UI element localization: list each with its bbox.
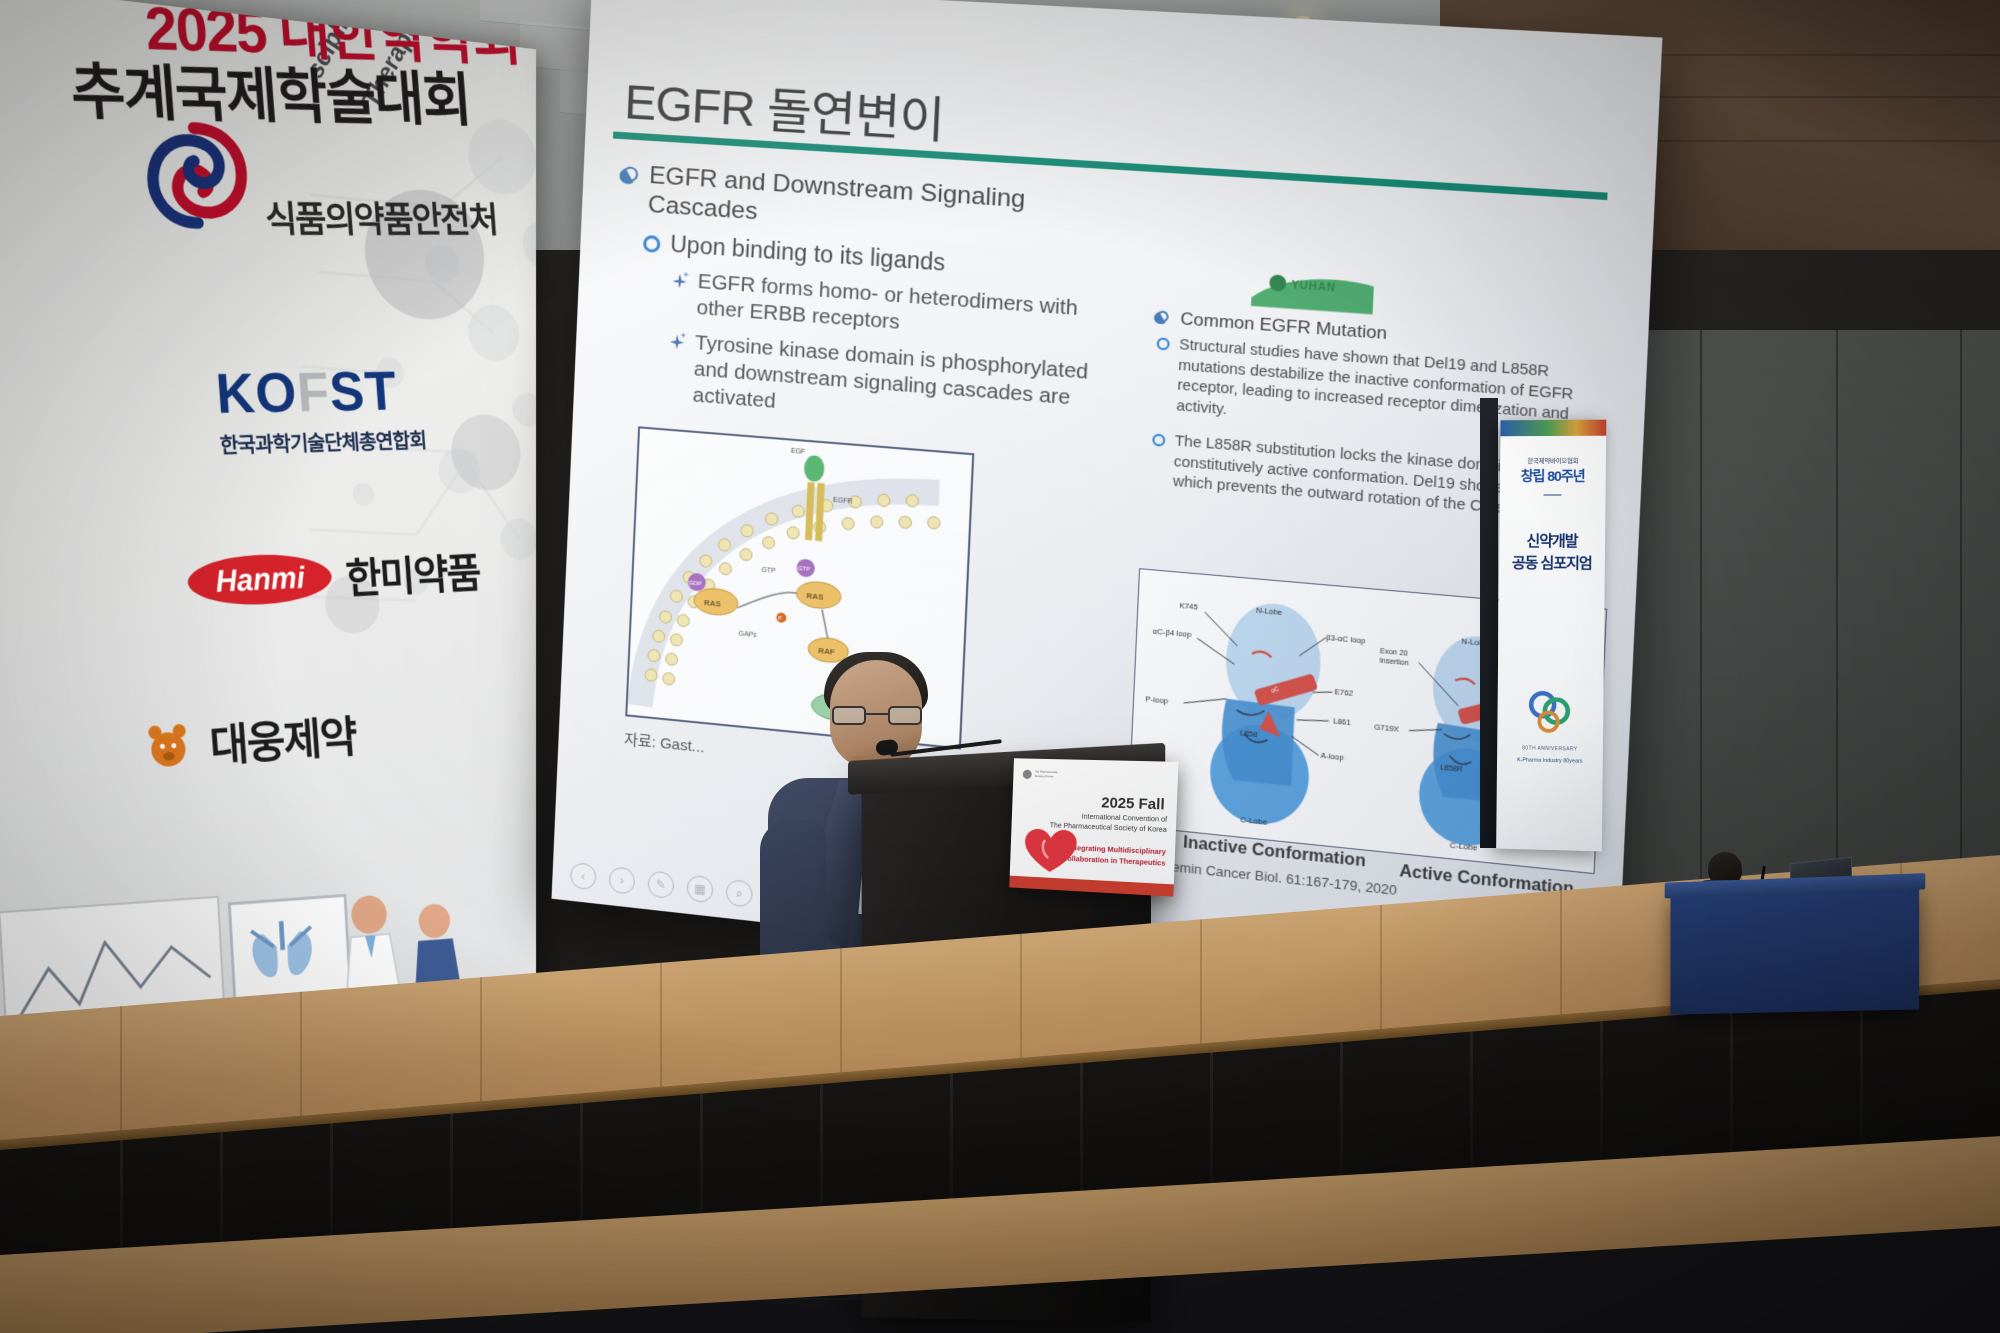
svg-text:P-loop: P-loop bbox=[1145, 694, 1168, 705]
grid-view-button[interactable]: ▦ bbox=[686, 875, 713, 904]
conference-hall-photo: sciplinary Therapeutics Korea 2025 대한약학회… bbox=[0, 0, 2000, 1333]
daewoong-logo: 대웅제약 bbox=[142, 702, 358, 780]
svg-text:Insertion: Insertion bbox=[1379, 658, 1409, 668]
svg-text:RAF: RAF bbox=[818, 646, 835, 657]
svg-text:αC-β4 loop: αC-β4 loop bbox=[1153, 627, 1192, 640]
symposium-banner-right: 한국제약바이오협회 창립 80주년 신약개발 공동 심포지엄 80TH ANNI… bbox=[1496, 420, 1606, 852]
podium-event-sign: The Pharmaceutical Society of Korea 2025… bbox=[1009, 758, 1178, 896]
right-banner-title-1: 신약개발 bbox=[1499, 530, 1605, 551]
svg-text:EGF: EGF bbox=[791, 448, 806, 456]
svg-text:The Pharmaceutical: The Pharmaceutical bbox=[1035, 769, 1058, 774]
svg-text:RAS: RAS bbox=[806, 591, 823, 602]
svg-text:C-Lobe: C-Lobe bbox=[1240, 815, 1268, 827]
pen-tool-button[interactable]: ✎ bbox=[647, 870, 674, 899]
anniversary-caption: 80TH ANNIVERSARY bbox=[1497, 745, 1603, 753]
ring-bullet-icon bbox=[643, 235, 661, 253]
left-figure-citation: 자료: Gast... bbox=[624, 728, 705, 757]
svg-text:A-loop: A-loop bbox=[1320, 750, 1343, 762]
svg-text:L861: L861 bbox=[1333, 716, 1351, 727]
svg-text:RAS: RAS bbox=[704, 598, 721, 609]
kofst-logo: KOFST 한국과학기술단체총연합회 bbox=[214, 359, 427, 460]
divider bbox=[1543, 494, 1561, 496]
svg-text:GTP: GTP bbox=[761, 567, 776, 575]
ring-bullet-icon bbox=[1157, 337, 1170, 350]
mfds-taegeuk-logo bbox=[141, 119, 252, 231]
hanmi-wordmark: Hanmi bbox=[186, 552, 333, 608]
svg-text:G719X: G719X bbox=[1374, 722, 1400, 734]
banner-support-column bbox=[1480, 398, 1498, 848]
yuhan-logo: YUHAN bbox=[1251, 265, 1375, 315]
previous-slide-button[interactable]: ‹ bbox=[570, 862, 597, 891]
svg-text:K745: K745 bbox=[1179, 600, 1198, 611]
right-banner-org: 한국제약바이오협회 bbox=[1500, 456, 1606, 465]
next-slide-button[interactable]: › bbox=[608, 866, 635, 895]
svg-text:β3-αC loop: β3-αC loop bbox=[1326, 632, 1366, 645]
svg-text:Society of Korea: Society of Korea bbox=[1035, 774, 1054, 779]
svg-text:GTP: GTP bbox=[797, 566, 810, 573]
pill-bullet-icon bbox=[617, 164, 641, 186]
banner-title-black: 추계국제학술대회 bbox=[67, 41, 472, 137]
svg-text:GDP: GDP bbox=[689, 580, 702, 587]
svg-text:GAPs: GAPs bbox=[738, 631, 757, 640]
mfds-label: 식품의약품안전처 bbox=[263, 189, 498, 242]
slide-left-column: EGFR and Downstream Signaling Cascades U… bbox=[609, 160, 1134, 451]
heart-graphic bbox=[1015, 821, 1086, 876]
hanmi-label: 한미약품 bbox=[343, 540, 481, 606]
daewoong-label: 대웅제약 bbox=[207, 702, 357, 775]
eyeglasses bbox=[832, 706, 922, 726]
kofst-label: 한국과학기술단체총연합회 bbox=[219, 424, 427, 460]
event-year: 2025 Fall bbox=[1101, 794, 1165, 813]
zoom-button[interactable]: ⌕ bbox=[726, 879, 753, 908]
ring-bullet-icon bbox=[1152, 433, 1165, 446]
right-banner-anniversary: 창립 80주년 bbox=[1500, 466, 1606, 486]
svg-text:Exon 20: Exon 20 bbox=[1380, 647, 1408, 657]
right-banner-org-caption: K-Pharma Industry 80years bbox=[1497, 757, 1603, 765]
society-logo-icon: The Pharmaceutical Society of Korea bbox=[1021, 766, 1060, 783]
bear-icon bbox=[143, 719, 195, 773]
sparkle-bullet-icon bbox=[668, 332, 687, 351]
right-banner-title-2: 공동 심포지엄 bbox=[1499, 552, 1605, 574]
banner-color-cap bbox=[1500, 420, 1606, 437]
svg-text:C-Lobe: C-Lobe bbox=[1449, 840, 1477, 852]
svg-text:L858: L858 bbox=[1240, 728, 1258, 739]
moderator-table bbox=[1670, 886, 1919, 1015]
kofst-wordmark: KOFST bbox=[214, 359, 425, 427]
svg-text:E762: E762 bbox=[1334, 687, 1353, 698]
pill-bullet-icon bbox=[1152, 309, 1171, 326]
sparkle-bullet-icon bbox=[670, 271, 689, 290]
anniversary-80-logo bbox=[1527, 688, 1573, 735]
